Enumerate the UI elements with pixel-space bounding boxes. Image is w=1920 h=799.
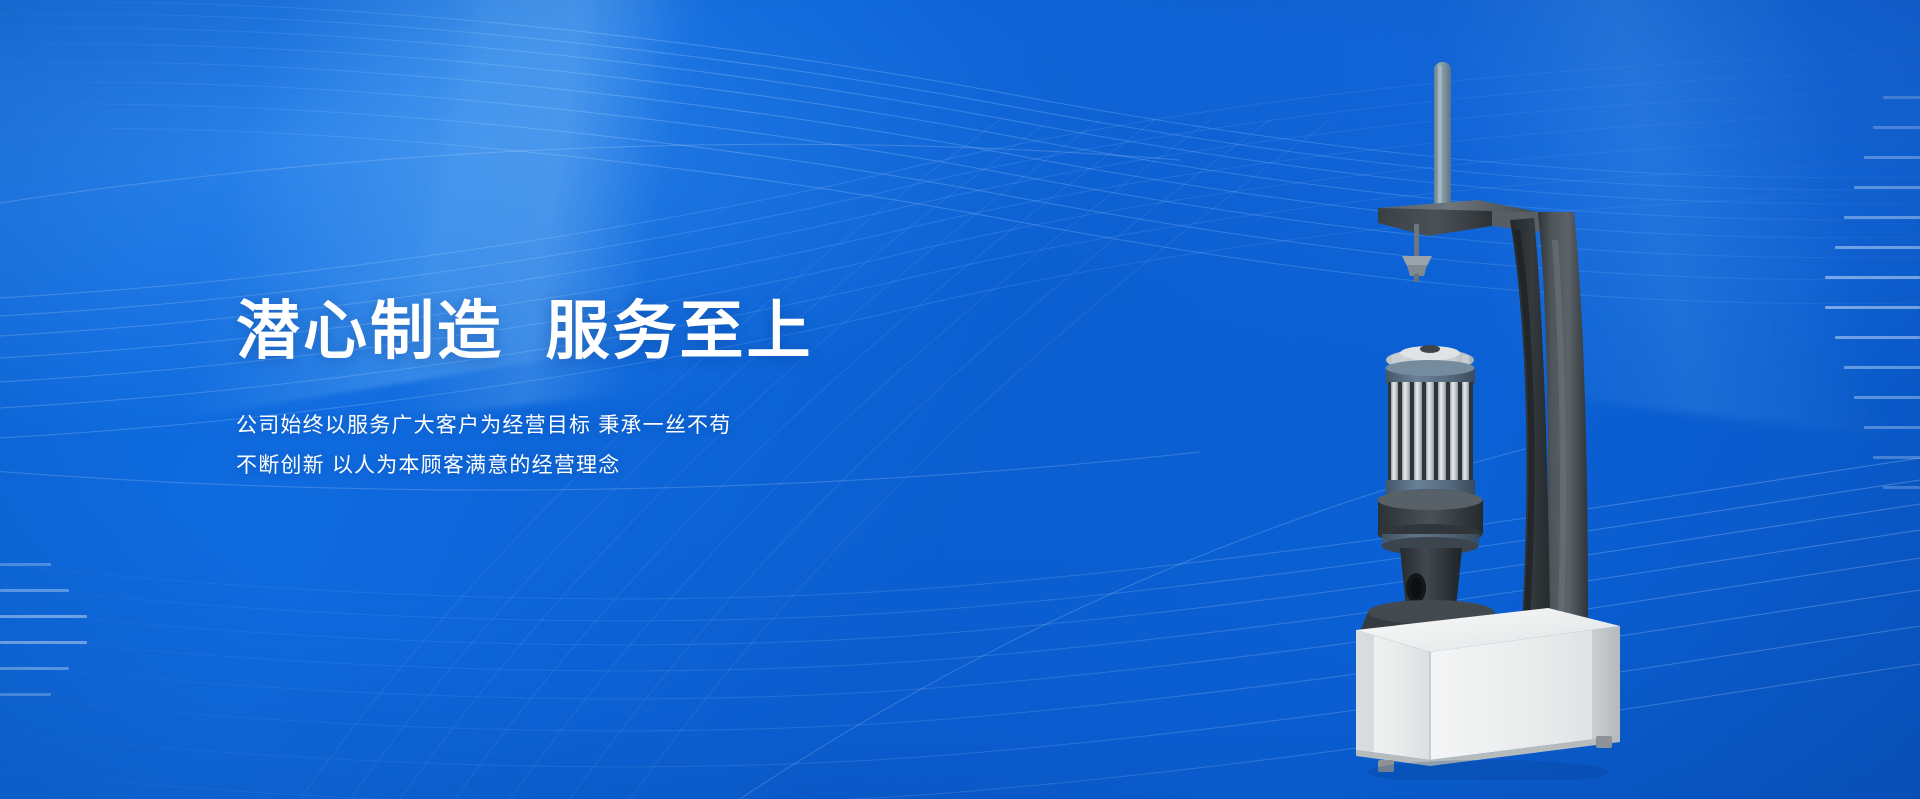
bottom-left-tick-decoration (0, 563, 108, 713)
hero-banner: 潜心制造 服务至上 公司始终以服务广大客户为经营目标 秉承一丝不苟 不断创新 以… (0, 0, 1920, 799)
machine-vertical-rod (1434, 62, 1451, 214)
tick-mark (1883, 486, 1920, 489)
tick-mark (1873, 456, 1920, 459)
filter-ribs (1391, 382, 1469, 482)
banner-headline: 潜心制造 服务至上 (236, 298, 996, 366)
machine-ribbed-cylinder-filter (1386, 345, 1476, 505)
right-edge-tick-decoration (1810, 96, 1920, 516)
tick-mark (1854, 186, 1920, 189)
machine-cabinet-pedestal (1356, 608, 1620, 772)
industrial-filter-machine-graphic (1352, 60, 1652, 780)
tick-mark (0, 693, 51, 696)
banner-subtitle: 公司始终以服务广大客户为经营目标 秉承一丝不苟 不断创新 以人为本顾客满意的经营… (236, 406, 996, 487)
tick-mark (0, 589, 69, 592)
banner-copy-block: 潜心制造 服务至上 公司始终以服务广大客户为经营目标 秉承一丝不苟 不断创新 以… (236, 298, 996, 486)
tick-mark (1854, 396, 1920, 399)
tick-mark (1844, 216, 1920, 219)
tick-mark (0, 563, 51, 566)
tick-mark (1864, 426, 1920, 429)
tick-mark (1873, 126, 1920, 129)
tick-mark (1864, 156, 1920, 159)
tick-mark (1844, 366, 1920, 369)
banner-subtitle-line-2: 不断创新 以人为本顾客满意的经营理念 (236, 446, 996, 486)
tick-mark (1825, 306, 1920, 309)
tick-mark (1825, 276, 1920, 279)
tick-mark (1835, 246, 1920, 249)
tick-mark (0, 641, 87, 644)
tick-mark (0, 615, 87, 618)
tick-mark (1835, 336, 1920, 339)
banner-subtitle-line-1: 公司始终以服务广大客户为经营目标 秉承一丝不苟 (236, 406, 996, 446)
tick-mark (1883, 96, 1920, 99)
tick-mark (0, 667, 69, 670)
